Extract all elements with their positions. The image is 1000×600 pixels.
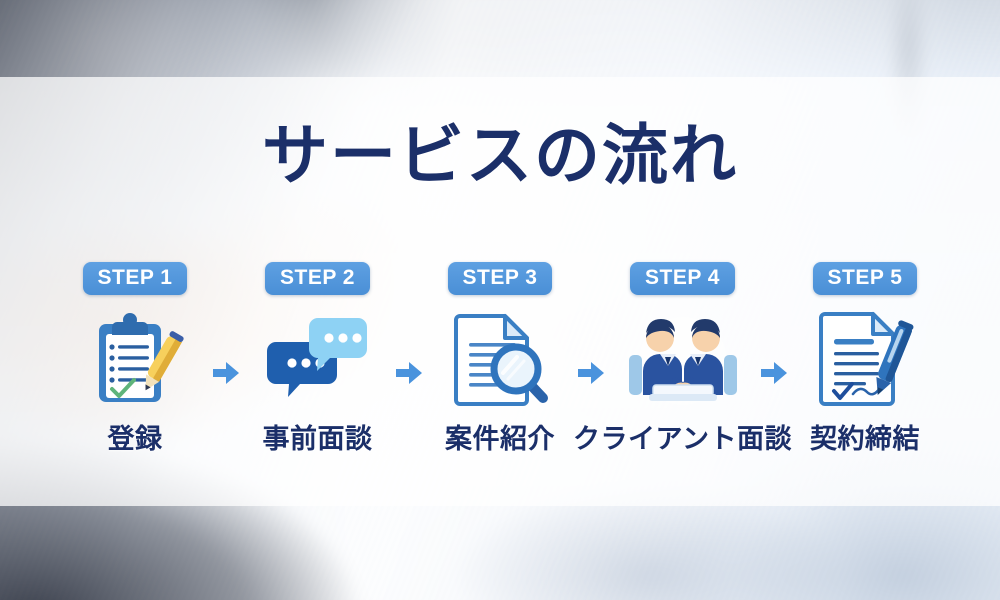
arrow-right-icon [211,358,241,388]
step-item-3: STEP 3 案件紹介 [425,262,575,456]
service-flow-banner: サービスの流れ STEP 1 [0,0,1000,600]
step-item-4: STEP 4 [608,262,758,456]
contract-signing-pen-icon [810,309,920,407]
step-badge-5: STEP 5 [813,262,918,295]
step-label-3: 案件紹介 [445,417,555,456]
document-magnifier-icon [445,309,555,407]
step-item-5: STEP 5 [790,262,940,456]
step-badge-1: STEP 1 [83,262,188,295]
step-item-1: STEP 1 [60,262,210,456]
speech-bubbles-icon [263,309,373,407]
steps-row: STEP 1 [60,262,940,462]
step-label-5: 契約締結 [810,417,920,456]
step-badge-4: STEP 4 [630,262,735,295]
step-badge-2: STEP 2 [265,262,370,295]
clipboard-checklist-pencil-icon [80,309,190,407]
arrow-right-icon [576,358,606,388]
step-badge-3: STEP 3 [448,262,553,295]
arrow-right-icon [759,358,789,388]
page-title: サービスの流れ [0,112,1000,198]
step-label-4: クライアント面談 [573,417,792,456]
two-people-meeting-icon [628,309,738,407]
arrow-right-icon [394,358,424,388]
step-label-2: 事前面談 [263,417,373,456]
step-label-1: 登録 [108,417,163,456]
step-item-2: STEP 2 事前面談 [243,262,393,456]
